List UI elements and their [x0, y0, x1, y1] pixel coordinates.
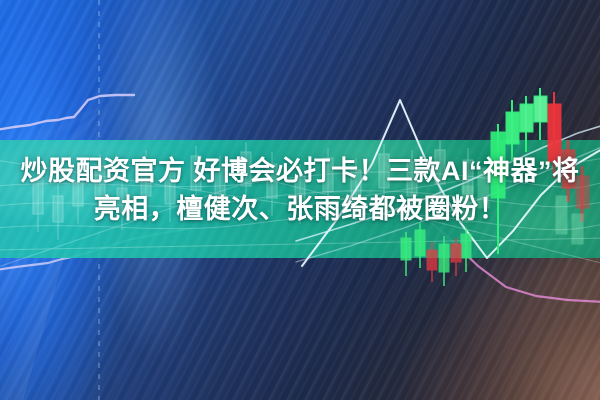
headline-line-1: 炒股配资官方 好博会必打卡！三款AI“神器”将	[0, 152, 600, 190]
lower-green-candles	[401, 222, 471, 286]
banner-image: 炒股配资官方 好博会必打卡！三款AI“神器”将 亮相，檀健次、张雨绮都被圈粉！	[0, 0, 600, 400]
headline-line-2: 亮相，檀健次、张雨绮都被圈粉！	[0, 190, 600, 228]
headline-text: 炒股配资官方 好博会必打卡！三款AI“神器”将 亮相，檀健次、张雨绮都被圈粉！	[0, 152, 600, 228]
